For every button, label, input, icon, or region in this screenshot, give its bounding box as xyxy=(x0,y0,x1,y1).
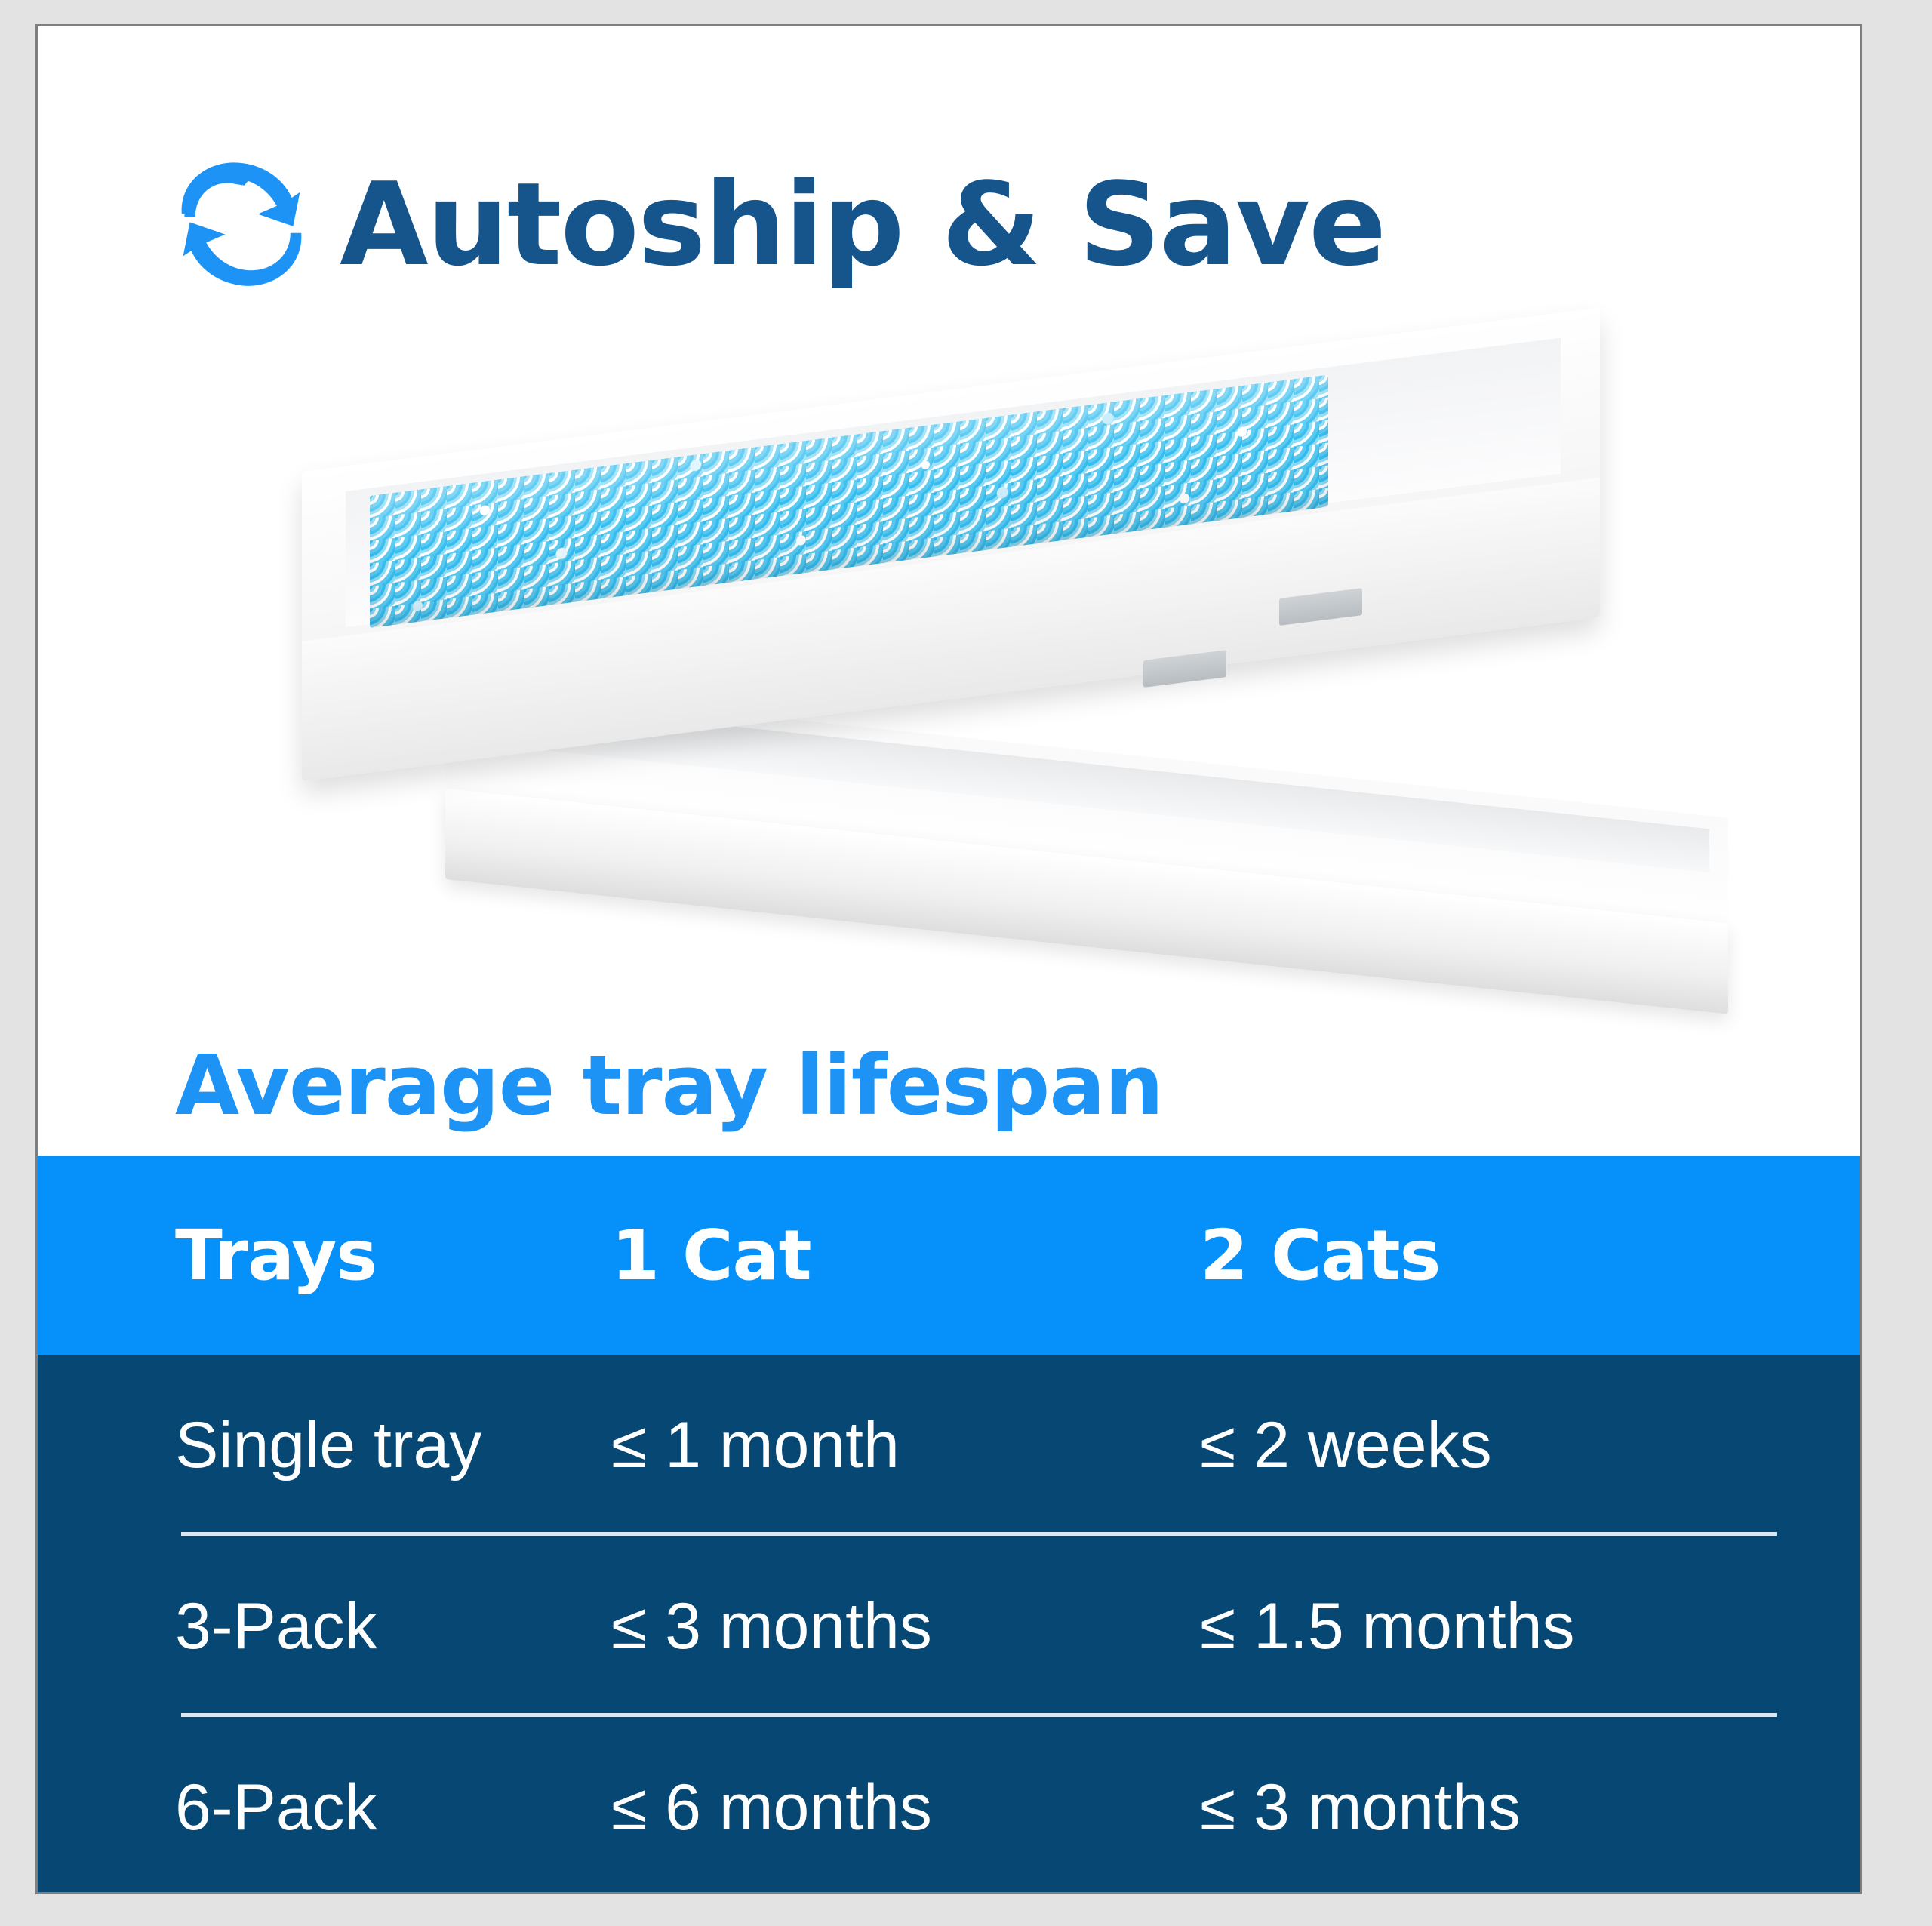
column-header-two-cats: 2 Cats xyxy=(1200,1221,1860,1291)
section-heading: Average tray lifespan xyxy=(175,1044,1163,1127)
cell-two-cats: ≤ 2 weeks xyxy=(1200,1413,1860,1478)
table-row: 3-Pack ≤ 3 months ≤ 1.5 months xyxy=(38,1536,1860,1717)
cell-tray-name: Single tray xyxy=(38,1413,611,1478)
cell-tray-name: 3-Pack xyxy=(38,1594,611,1659)
cell-one-cat: ≤ 3 months xyxy=(611,1594,1200,1659)
page-canvas: Autoship & Save Average tray lifespan Tr… xyxy=(0,0,1932,1926)
brand-header: Autoship & Save xyxy=(174,153,1385,297)
cell-one-cat: ≤ 1 month xyxy=(611,1413,1200,1478)
autoship-info-card: Autoship & Save Average tray lifespan Tr… xyxy=(35,24,1862,1894)
cell-two-cats: ≤ 3 months xyxy=(1200,1775,1860,1840)
cell-one-cat: ≤ 6 months xyxy=(611,1775,1200,1840)
table-header: Trays 1 Cat 2 Cats xyxy=(38,1156,1860,1355)
table-row: Single tray ≤ 1 month ≤ 2 weeks xyxy=(38,1355,1860,1536)
brand-title: Autoship & Save xyxy=(340,168,1385,282)
table-body: Single tray ≤ 1 month ≤ 2 weeks 3-Pack ≤… xyxy=(38,1355,1860,1892)
cell-tray-name: 6-Pack xyxy=(38,1775,611,1840)
column-header-trays: Trays xyxy=(38,1221,611,1291)
column-header-one-cat: 1 Cat xyxy=(611,1221,1200,1291)
table-row: 6-Pack ≤ 6 months ≤ 3 months xyxy=(38,1717,1860,1894)
autoship-recycle-icon xyxy=(174,153,309,297)
cat-litter-tray-photo xyxy=(257,381,1713,985)
cell-two-cats: ≤ 1.5 months xyxy=(1200,1594,1860,1659)
